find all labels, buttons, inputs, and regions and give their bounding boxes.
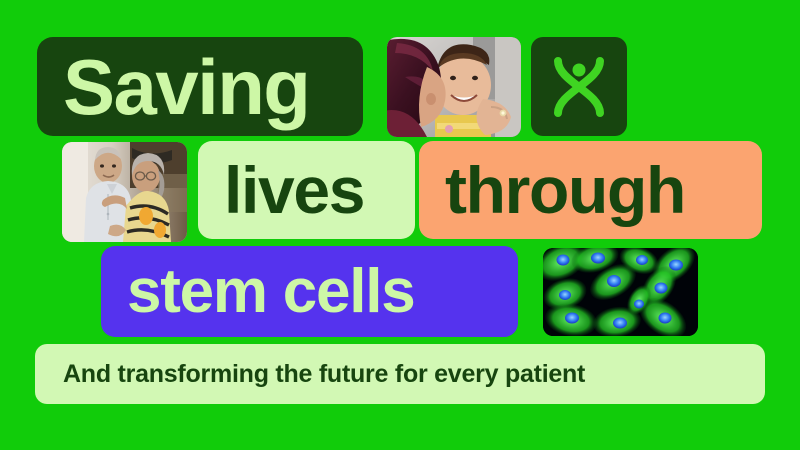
- dna-helix-node: [573, 63, 586, 76]
- headline-word-stem-cells-text: stem cells: [127, 261, 414, 323]
- headline-word-saving-text: Saving: [63, 48, 309, 126]
- stem-cells-micrograph-image: [543, 248, 698, 336]
- headline-word-saving: Saving: [37, 37, 363, 136]
- subtitle-text: And transforming the future for every pa…: [63, 360, 585, 389]
- subtitle-bar: And transforming the future for every pa…: [35, 344, 765, 404]
- dna-helix-icon: [548, 55, 610, 119]
- headline-word-through-text: through: [445, 157, 685, 223]
- headline-word-lives-text: lives: [224, 157, 364, 223]
- hero-banner: Saving: [0, 0, 800, 450]
- headline-word-stem-cells: stem cells: [101, 246, 518, 337]
- headline-word-through: through: [419, 141, 762, 239]
- stem-cells-micrograph: [543, 248, 698, 336]
- mother-kissing-child-photo: [387, 37, 521, 137]
- organisation-logo-tile[interactable]: [531, 37, 627, 136]
- elderly-couple-image: [62, 142, 187, 242]
- elderly-couple-photo: [62, 142, 187, 242]
- mother-kissing-child-image: [387, 37, 521, 137]
- headline-word-lives: lives: [198, 141, 415, 239]
